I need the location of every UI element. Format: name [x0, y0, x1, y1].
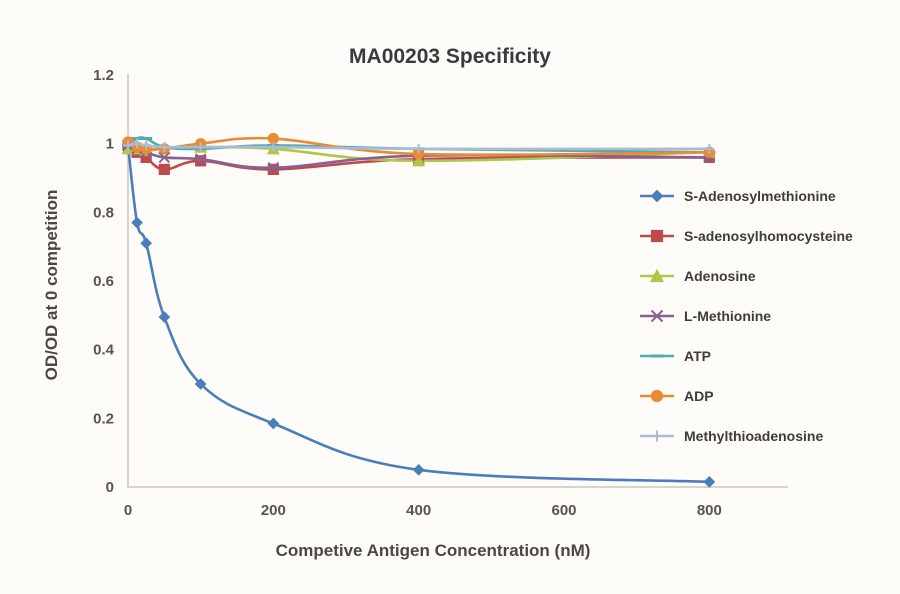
x-tick-label: 0 — [124, 502, 132, 519]
legend-label: S-adenosylhomocysteine — [684, 228, 853, 244]
data-point-marker — [159, 164, 169, 174]
legend-item-4[interactable]: L-Methionine — [634, 302, 886, 330]
legend-item-2[interactable]: S-adenosylhomocysteine — [634, 222, 886, 250]
data-point-marker — [141, 238, 151, 248]
legend-item-7[interactable]: Methylthioadenosine — [634, 422, 886, 450]
legend-label: S-Adenosylmethionine — [684, 188, 836, 204]
data-point-marker — [652, 231, 663, 242]
chart-figure: MA00203 Specificity 00.20.40.60.811.2 02… — [0, 0, 900, 594]
data-point-marker — [132, 218, 142, 228]
legend-item-1[interactable]: S-Adenosylmethionine — [634, 182, 886, 210]
x-tick-label: 800 — [697, 502, 722, 519]
y-tick-label: 0.8 — [93, 204, 114, 221]
y-tick-label: 0.2 — [93, 410, 114, 427]
y-tick-label: 0.6 — [93, 273, 114, 290]
data-point-marker — [268, 418, 278, 428]
y-tick-label: 0 — [106, 479, 114, 496]
x-axis-tick-labels: 0200400600800 — [124, 502, 722, 519]
series-1 — [123, 140, 714, 486]
x-tick-label: 600 — [551, 502, 576, 519]
y-tick-label: 1 — [106, 136, 114, 153]
y-tick-label: 1.2 — [93, 67, 114, 84]
legend-item-5[interactable]: ATP — [634, 342, 886, 370]
data-point-marker — [268, 164, 278, 174]
chart-legend: S-AdenosylmethionineS-adenosylhomocystei… — [634, 182, 886, 450]
legend-label: ADP — [684, 388, 714, 404]
legend-item-6[interactable]: ADP — [634, 382, 886, 410]
data-point-marker — [704, 477, 714, 487]
x-tick-label: 200 — [261, 502, 286, 519]
data-point-marker — [159, 312, 169, 322]
legend-label: Adenosine — [684, 268, 756, 284]
x-axis-title: Competive Antigen Concentration (nM) — [276, 541, 591, 560]
data-series-group — [122, 134, 715, 487]
data-point-marker — [652, 391, 663, 402]
legend-item-3[interactable]: Adenosine — [634, 262, 886, 290]
x-tick-label: 400 — [406, 502, 431, 519]
y-tick-label: 0.4 — [93, 342, 115, 359]
legend-label: Methylthioadenosine — [684, 428, 823, 444]
series-line — [128, 145, 709, 481]
legend-label: ATP — [684, 348, 711, 364]
legend-label: L-Methionine — [684, 308, 771, 324]
y-axis-title: OD/OD at 0 competition — [42, 190, 61, 381]
specificity-line-chart: MA00203 Specificity 00.20.40.60.811.2 02… — [0, 0, 900, 594]
chart-title: MA00203 Specificity — [349, 45, 551, 68]
data-point-marker — [268, 134, 278, 144]
data-point-marker — [414, 465, 424, 475]
y-axis-tick-labels: 00.20.40.60.811.2 — [93, 67, 115, 496]
